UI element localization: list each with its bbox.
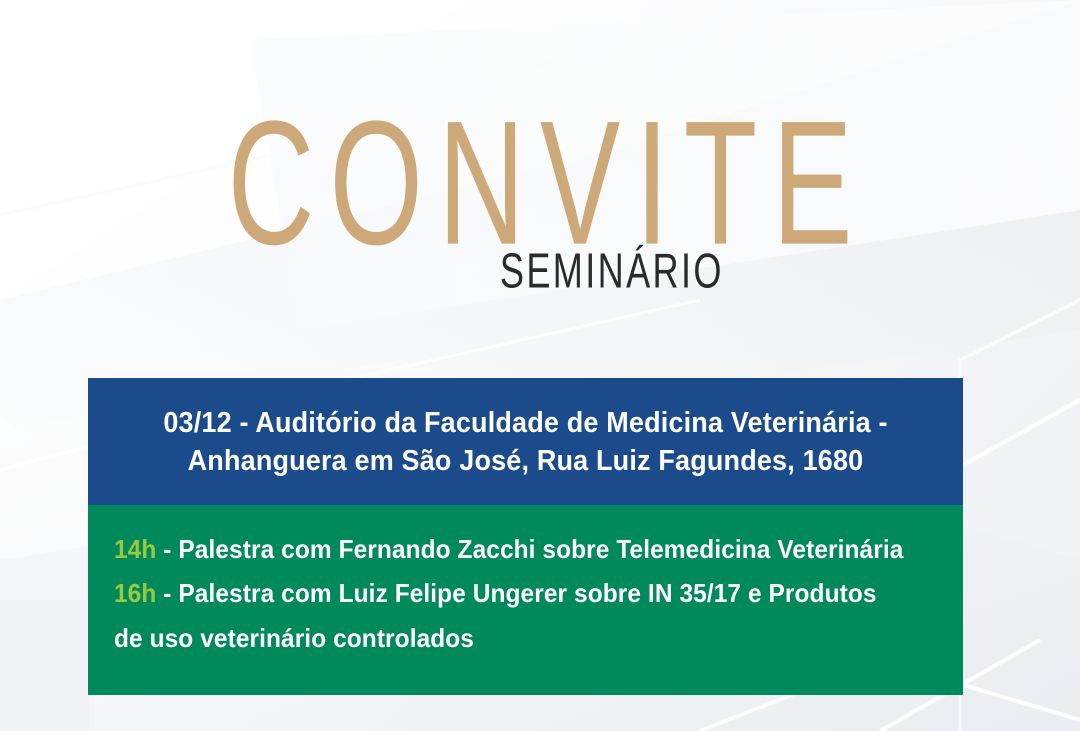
venue-line-2: Anhanguera em São José, Rua Luiz Fagunde… [147,442,905,480]
schedule-description: Palestra com Fernando Zacchi sobre Telem… [178,534,903,564]
venue-line-1: 03/12 - Auditório da Faculdade de Medici… [147,404,905,442]
schedule-hour: 16h [114,578,156,608]
event-invitation-poster: CONVITE SEMINÁRIO 03/12 - Auditório da F… [0,0,1080,731]
schedule-description: Palestra com Luiz Felipe Ungerer sobre I… [114,578,877,653]
banner-stack: 03/12 - Auditório da Faculdade de Medici… [88,378,963,695]
schedule-separator: - [156,578,178,608]
schedule-separator: - [156,534,178,564]
poster-subtitle-block: SEMINÁRIO [0,247,1080,285]
page-subtitle: SEMINÁRIO [500,247,724,296]
schedule-banner: 14h - Palestra com Fernando Zacchi sobre… [88,505,963,695]
schedule-item: 16h - Palestra com Luiz Felipe Ungerer s… [114,571,888,660]
poster-title-block: CONVITE [0,96,1080,224]
venue-banner: 03/12 - Auditório da Faculdade de Medici… [88,378,963,505]
schedule-item: 14h - Palestra com Fernando Zacchi sobre… [114,527,888,572]
schedule-hour: 14h [114,534,156,564]
